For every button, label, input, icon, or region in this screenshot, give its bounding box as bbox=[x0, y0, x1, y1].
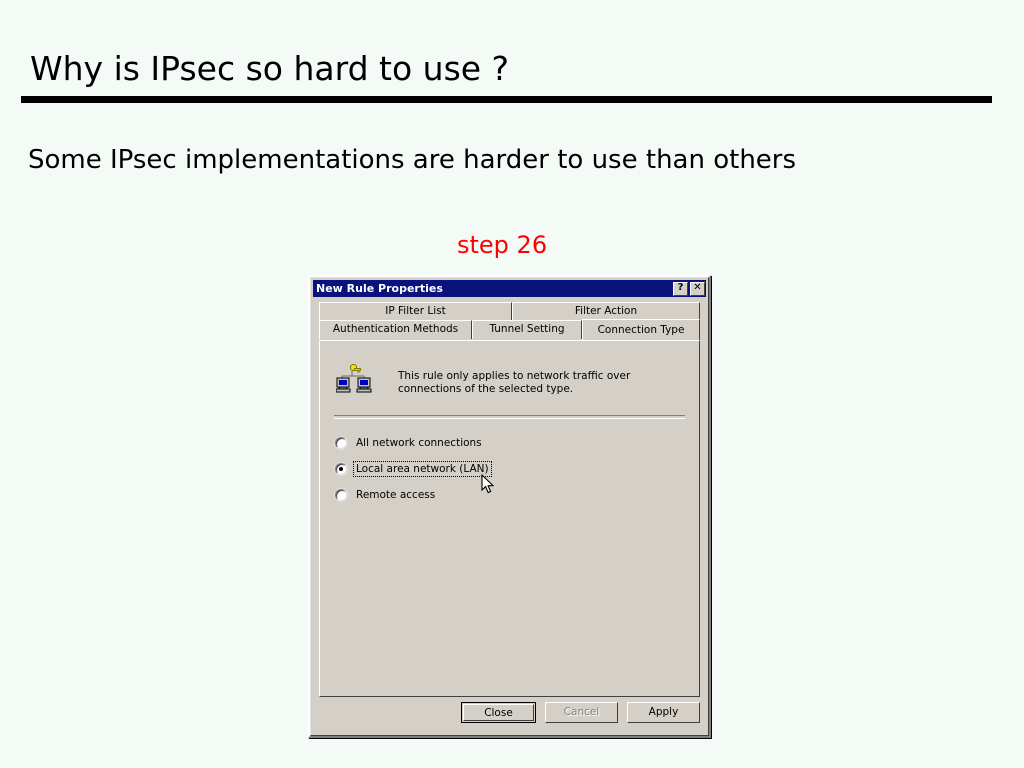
panel-separator bbox=[334, 415, 685, 419]
tab-label: Authentication Methods bbox=[333, 323, 458, 335]
new-rule-properties-dialog: New Rule Properties ? ✕ IP Filter List F… bbox=[308, 275, 711, 738]
slide-subtitle: Some IPsec implementations are harder to… bbox=[28, 145, 796, 175]
tab-label: Connection Type bbox=[598, 324, 685, 336]
tab-row-lower: Authentication Methods Tunnel Setting Co… bbox=[319, 320, 700, 339]
tab-label: Tunnel Setting bbox=[489, 323, 564, 335]
tab-ip-filter-list[interactable]: IP Filter List bbox=[319, 302, 512, 321]
connection-type-panel: This rule only applies to network traffi… bbox=[319, 340, 700, 697]
cancel-button: Cancel bbox=[545, 702, 618, 723]
radio-option-local-area-network[interactable]: Local area network (LAN) bbox=[335, 459, 685, 479]
close-icon[interactable]: ✕ bbox=[690, 282, 705, 296]
tab-strip: IP Filter List Filter Action Authenticat… bbox=[319, 302, 700, 342]
step-annotation: step 26 bbox=[457, 231, 547, 259]
close-button[interactable]: Close bbox=[461, 702, 536, 723]
radio-icon-selected[interactable] bbox=[335, 463, 347, 475]
radio-label: Remote access bbox=[354, 488, 437, 502]
connection-type-radio-group: All network connections Local area netwo… bbox=[335, 433, 685, 511]
tab-authentication-methods[interactable]: Authentication Methods bbox=[319, 320, 472, 339]
radio-option-all-network-connections[interactable]: All network connections bbox=[335, 433, 685, 453]
tab-label: IP Filter List bbox=[385, 305, 445, 317]
radio-icon[interactable] bbox=[335, 437, 347, 449]
close-icon-glyph: ✕ bbox=[693, 282, 701, 293]
radio-label: All network connections bbox=[354, 436, 484, 450]
apply-button[interactable]: Apply bbox=[627, 702, 700, 723]
radio-option-remote-access[interactable]: Remote access bbox=[335, 485, 685, 505]
dialog-title-text: New Rule Properties bbox=[316, 280, 671, 297]
dialog-titlebar[interactable]: New Rule Properties ? ✕ bbox=[313, 280, 706, 297]
dialog-button-bar: Close Cancel Apply bbox=[310, 702, 700, 724]
panel-description-text: This rule only applies to network traffi… bbox=[398, 370, 683, 396]
close-button-label: Close bbox=[463, 704, 534, 721]
page-title: Why is IPsec so hard to use ? bbox=[30, 49, 509, 88]
help-icon[interactable]: ? bbox=[673, 282, 688, 296]
ipsec-rule-computers-key-icon bbox=[336, 363, 372, 395]
radio-label: Local area network (LAN) bbox=[354, 462, 491, 476]
title-divider-rule bbox=[21, 96, 992, 103]
tab-connection-type[interactable]: Connection Type bbox=[582, 319, 700, 340]
tab-label: Filter Action bbox=[575, 305, 637, 317]
tab-tunnel-setting[interactable]: Tunnel Setting bbox=[472, 320, 582, 339]
panel-description-row: This rule only applies to network traffi… bbox=[336, 361, 683, 396]
help-icon-glyph: ? bbox=[678, 282, 684, 293]
radio-icon[interactable] bbox=[335, 489, 347, 501]
